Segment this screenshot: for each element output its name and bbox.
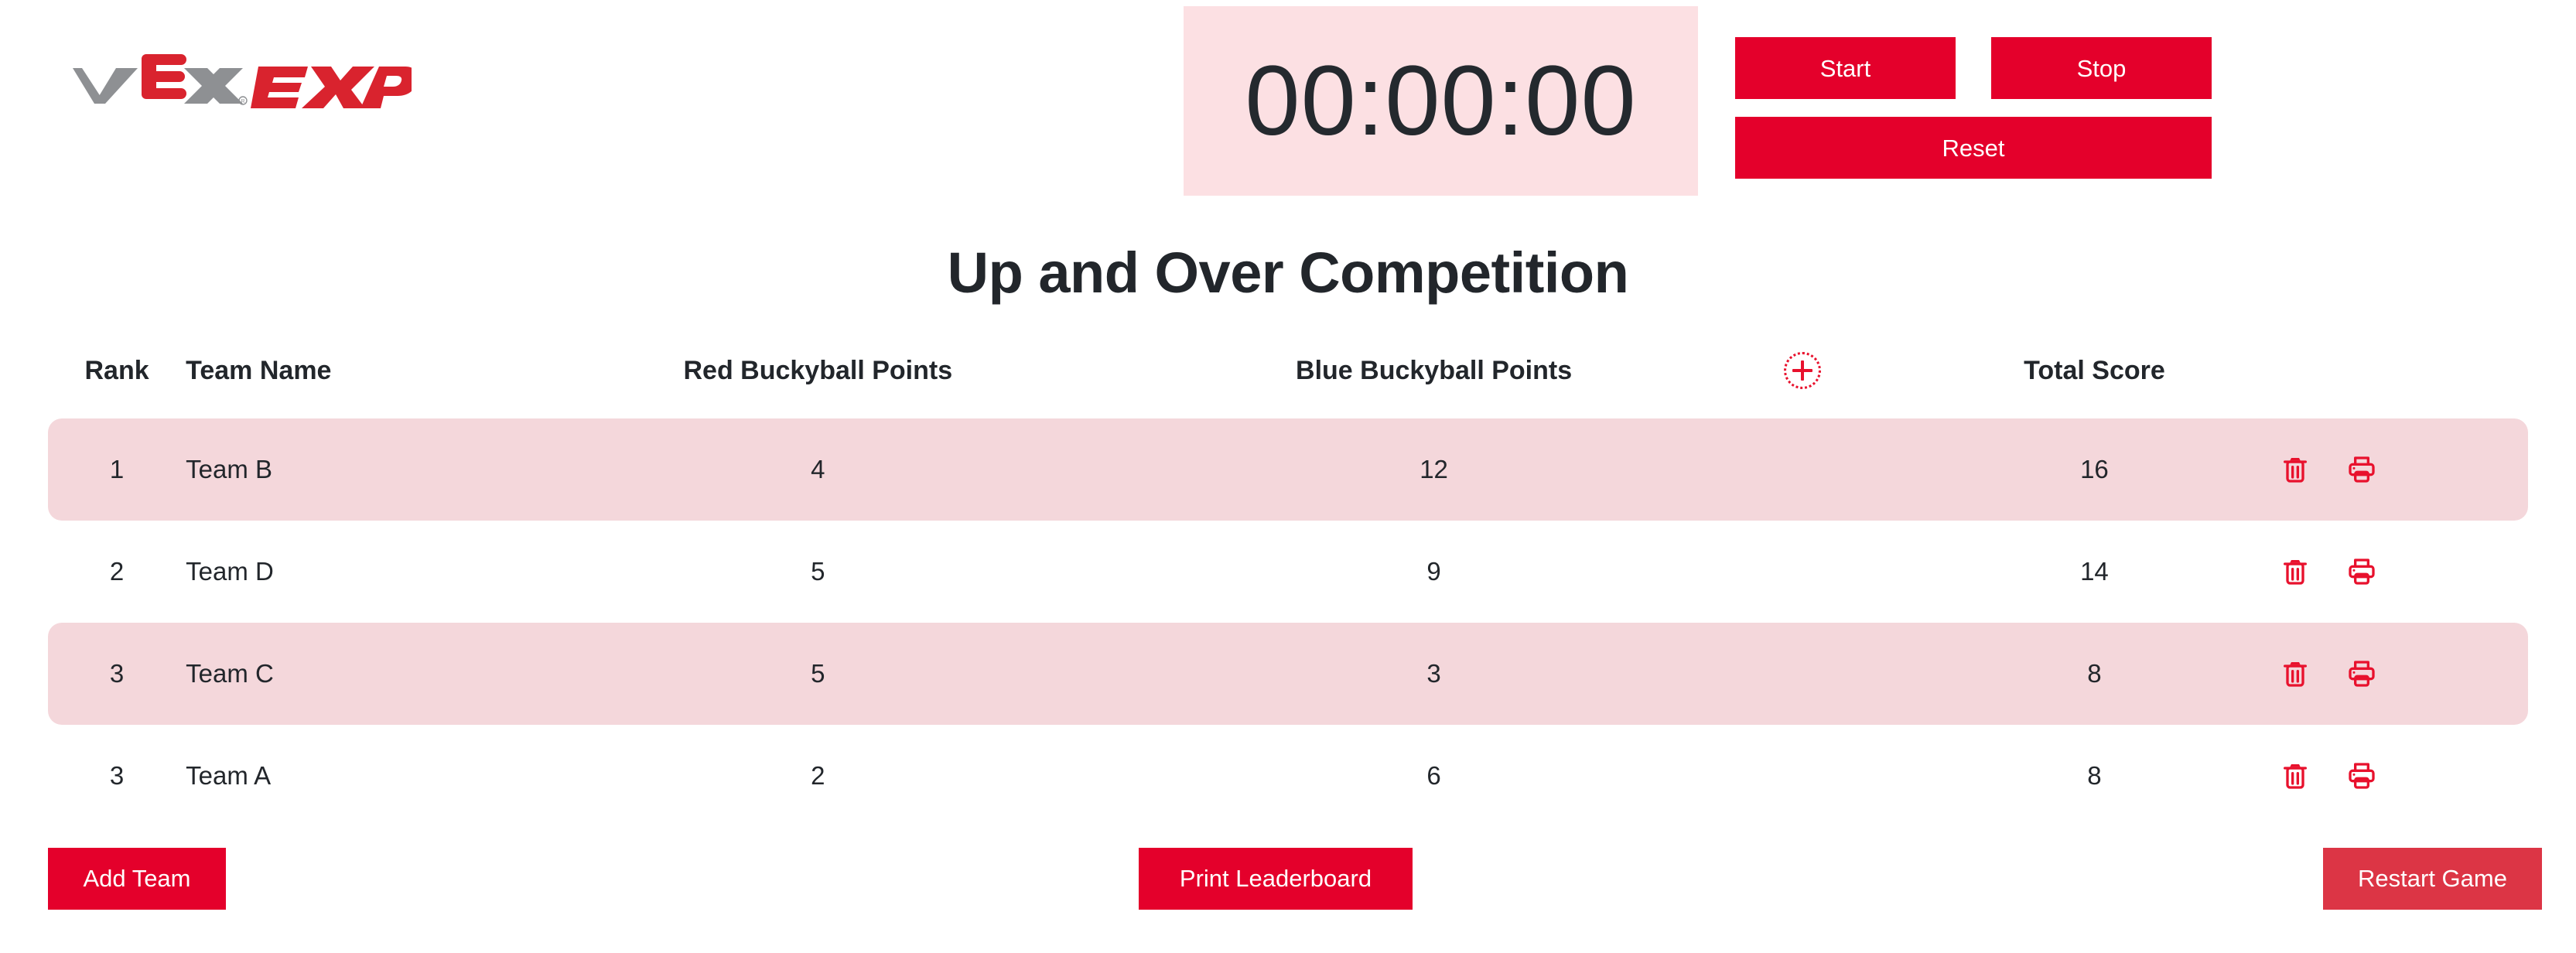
page-title: Up and Over Competition: [0, 240, 2576, 306]
leaderboard-table: Rank Team Name Red Buckyball Points Blue…: [48, 352, 2528, 827]
vex-exp-logo: R: [48, 46, 412, 113]
column-header-rank[interactable]: Rank: [48, 352, 186, 418]
cell-actions: [2269, 725, 2528, 827]
print-row-button[interactable]: [2345, 657, 2379, 691]
stop-button[interactable]: Stop: [1991, 37, 2212, 99]
table-row[interactable]: 3 Team C 5 3 8: [48, 623, 2528, 725]
print-row-button[interactable]: [2345, 453, 2379, 487]
cell-total-score: 14: [1920, 521, 2269, 623]
cell-blue-points[interactable]: 3: [1183, 623, 1686, 725]
cell-actions: [2269, 623, 2528, 725]
cell-blue-points[interactable]: 6: [1183, 725, 1686, 827]
reset-button[interactable]: Reset: [1735, 117, 2212, 179]
table-row[interactable]: 1 Team B 4 12 16: [48, 418, 2528, 521]
cell-blue-points[interactable]: 9: [1183, 521, 1686, 623]
table-row[interactable]: 2 Team D 5 9 14: [48, 521, 2528, 623]
cell-spacer: [1685, 725, 1920, 827]
table-head: Rank Team Name Red Buckyball Points Blue…: [48, 352, 2528, 418]
cell-red-points[interactable]: 4: [453, 418, 1183, 521]
cell-actions: [2269, 418, 2528, 521]
print-row-button[interactable]: [2345, 555, 2379, 589]
cell-spacer: [1685, 418, 1920, 521]
cell-red-points[interactable]: 2: [453, 725, 1183, 827]
cell-team-name[interactable]: Team D: [186, 521, 453, 623]
cell-rank: 1: [48, 418, 186, 521]
timer-controls: Start Stop Reset: [1735, 37, 2212, 179]
plus-circle-dashed-icon[interactable]: [1784, 352, 1821, 389]
cell-actions: [2269, 521, 2528, 623]
add-team-button[interactable]: Add Team: [48, 848, 226, 910]
column-header-blue-buckyball-points[interactable]: Blue Buckyball Points: [1183, 352, 1686, 418]
timer-display: 00:00:00: [1184, 6, 1698, 196]
start-button[interactable]: Start: [1735, 37, 1956, 99]
table-row[interactable]: 3 Team A 2 6 8: [48, 725, 2528, 827]
delete-row-button[interactable]: [2278, 453, 2312, 487]
timer-value: 00:00:00: [1245, 52, 1636, 151]
print-row-button[interactable]: [2345, 759, 2379, 793]
delete-row-button[interactable]: [2278, 555, 2312, 589]
cell-total-score: 8: [1920, 725, 2269, 827]
svg-text:R: R: [241, 99, 244, 104]
cell-red-points[interactable]: 5: [453, 623, 1183, 725]
cell-team-name[interactable]: Team A: [186, 725, 453, 827]
cell-team-name[interactable]: Team C: [186, 623, 453, 725]
column-header-team-name[interactable]: Team Name: [186, 352, 453, 418]
column-header-actions: [2269, 352, 2528, 418]
cell-red-points[interactable]: 5: [453, 521, 1183, 623]
cell-spacer: [1685, 623, 1920, 725]
column-header-add-column: [1685, 352, 1920, 418]
cell-rank: 2: [48, 521, 186, 623]
delete-row-button[interactable]: [2278, 759, 2312, 793]
print-leaderboard-button[interactable]: Print Leaderboard: [1139, 848, 1413, 910]
cell-rank: 3: [48, 725, 186, 827]
column-header-red-buckyball-points[interactable]: Red Buckyball Points: [453, 352, 1183, 418]
table-body: 1 Team B 4 12 16: [48, 418, 2528, 827]
table-header-row: Rank Team Name Red Buckyball Points Blue…: [48, 352, 2528, 418]
cell-blue-points[interactable]: 12: [1183, 418, 1686, 521]
restart-game-button[interactable]: Restart Game: [2323, 848, 2542, 910]
cell-spacer: [1685, 521, 1920, 623]
cell-total-score: 8: [1920, 623, 2269, 725]
leaderboard-container: Rank Team Name Red Buckyball Points Blue…: [0, 352, 2576, 827]
footer-actions: Add Team Print Leaderboard Restart Game: [0, 848, 2576, 925]
cell-total-score: 16: [1920, 418, 2269, 521]
cell-rank: 3: [48, 623, 186, 725]
cell-team-name[interactable]: Team B: [186, 418, 453, 521]
delete-row-button[interactable]: [2278, 657, 2312, 691]
header-bar: R 00:00:00 Start Stop Reset: [0, 0, 2576, 200]
competition-leaderboard-page: R 00:00:00 Start Stop Reset Up and Over …: [0, 0, 2576, 953]
column-header-total-score[interactable]: Total Score: [1920, 352, 2269, 418]
